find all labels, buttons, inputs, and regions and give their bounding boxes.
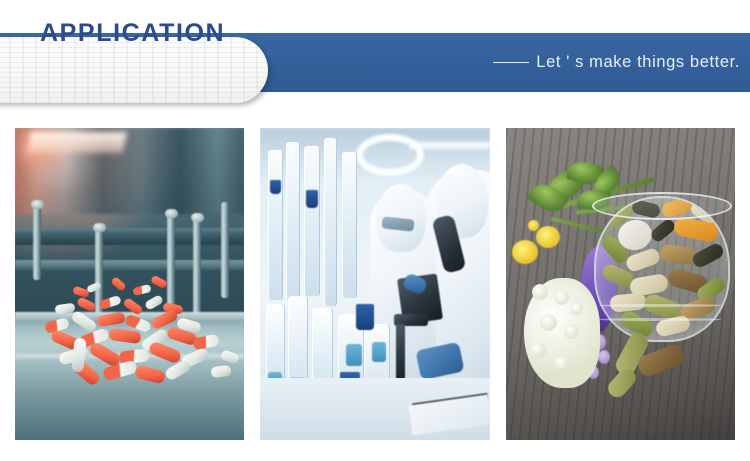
photo-1-content	[15, 128, 244, 440]
p2-glass-tube-2	[286, 142, 300, 302]
banner-tagline: Let ' s make things better.	[493, 33, 740, 92]
photo-3-content	[506, 128, 735, 440]
p1-post-1	[33, 206, 41, 280]
p3-yellow-bud	[528, 220, 539, 231]
p3-white-floret-7	[570, 302, 583, 315]
p1-knob-1	[31, 200, 44, 209]
p2-glass-tube-1	[268, 150, 283, 300]
supplement-capsule	[609, 292, 647, 313]
p1-knob-2	[93, 223, 106, 232]
p2-glass-tube-4	[324, 138, 337, 306]
supplement-capsule	[690, 241, 725, 269]
p3-white-floret-3	[540, 314, 557, 331]
p3-bowl-rim	[592, 192, 732, 220]
p3-white-floret-1	[532, 284, 548, 300]
application-image-gallery	[15, 128, 735, 440]
p3-yellow-flower-2	[536, 226, 560, 248]
supplement-capsule	[649, 217, 677, 244]
page-title: APPLICATION	[30, 0, 268, 66]
p1-rail-lower	[15, 260, 244, 270]
p2-glass-tube-3	[304, 146, 320, 296]
supplement-capsule	[659, 244, 697, 266]
p2-reagent-blue-5	[356, 304, 374, 330]
p2-glass-tube-5	[342, 152, 357, 298]
horizontal-rule-icon	[493, 62, 529, 64]
p1-lamp-highlight	[27, 132, 127, 153]
p1-knob-3	[165, 209, 178, 218]
p2-ring-light-icon	[356, 134, 424, 176]
photo-2-content	[260, 128, 489, 440]
p1-rail-upper	[15, 228, 244, 245]
p3-white-floret-4	[564, 324, 579, 339]
p3-bowl-band-2	[598, 318, 722, 321]
p3-white-floret-6	[554, 356, 569, 371]
application-banner: Let ' s make things better. APPLICATION	[0, 0, 750, 118]
tagline-text: Let ' s make things better.	[536, 53, 740, 72]
p2-reagent-blue-6	[270, 180, 281, 194]
p2-reagent-cyan-3	[372, 342, 386, 362]
supplement-capsule	[624, 247, 661, 274]
p3-white-floret-5	[530, 342, 546, 358]
p3-bowl-band-1	[598, 304, 722, 307]
p2-microscope-column	[396, 324, 405, 386]
p2-reagent-blue-7	[306, 190, 318, 208]
photo-capsule-production-line[interactable]	[15, 128, 244, 440]
p1-post-5	[221, 202, 229, 298]
p2-reagent-cyan-2	[346, 344, 362, 366]
p3-white-floret-2	[554, 290, 569, 305]
p3-yellow-flower-1	[512, 240, 538, 264]
p1-knob-4	[191, 213, 204, 222]
photo-herbal-supplements[interactable]	[506, 128, 735, 440]
photo-laboratory-research[interactable]	[260, 128, 489, 440]
